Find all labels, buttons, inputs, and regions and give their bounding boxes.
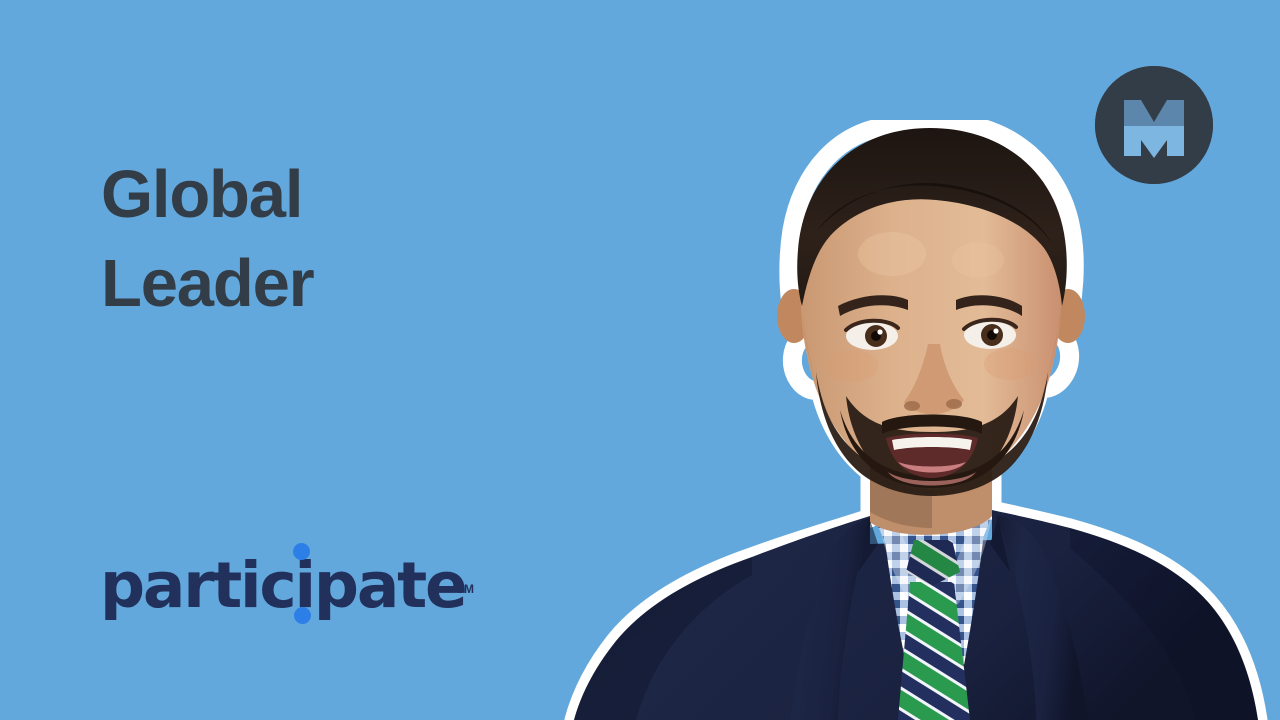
service-mark: SM (456, 582, 474, 596)
accent-dot-below-i (294, 607, 311, 624)
mouth (886, 434, 978, 486)
video-frame: Global Leader (0, 0, 1280, 720)
accent-dot-above-i (293, 543, 310, 560)
m-badge (1095, 66, 1213, 184)
page-title: Global Leader (101, 150, 521, 328)
participate-wordmark: participate (100, 540, 466, 632)
head (777, 128, 1085, 496)
presenter-portrait (540, 120, 1280, 720)
m-letter-bottom (1124, 126, 1184, 158)
